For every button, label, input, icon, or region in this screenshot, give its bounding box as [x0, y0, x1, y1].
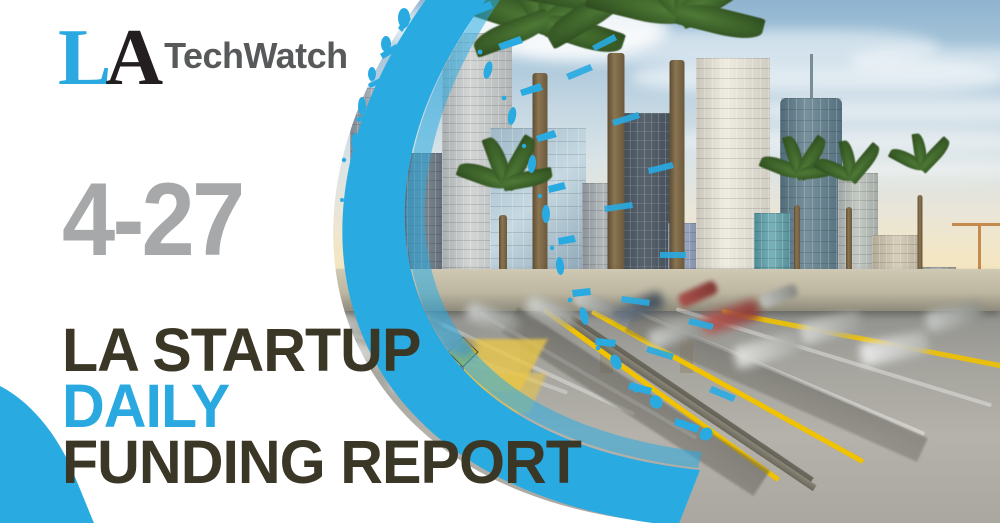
headline-line-3: FUNDING REPORT — [62, 434, 581, 490]
la-techwatch-funding-report-banner: L A TechWatch 4-27 LA STARTUP DAILY FUND… — [0, 0, 1000, 523]
headline-line-2: DAILY — [62, 378, 581, 434]
headline-block: LA STARTUP DAILY FUNDING REPORT — [62, 322, 597, 490]
logo-wordmark: TechWatch — [164, 38, 348, 74]
headline-line-1: LA STARTUP — [62, 322, 581, 378]
content-layer: L A TechWatch 4-27 LA STARTUP DAILY FUND… — [0, 0, 1000, 523]
logo-letter-l: L — [58, 24, 105, 92]
la-techwatch-logo[interactable]: L A TechWatch — [58, 24, 348, 92]
date-label: 4-27 — [62, 168, 242, 272]
logo-letter-a: A — [105, 24, 157, 92]
